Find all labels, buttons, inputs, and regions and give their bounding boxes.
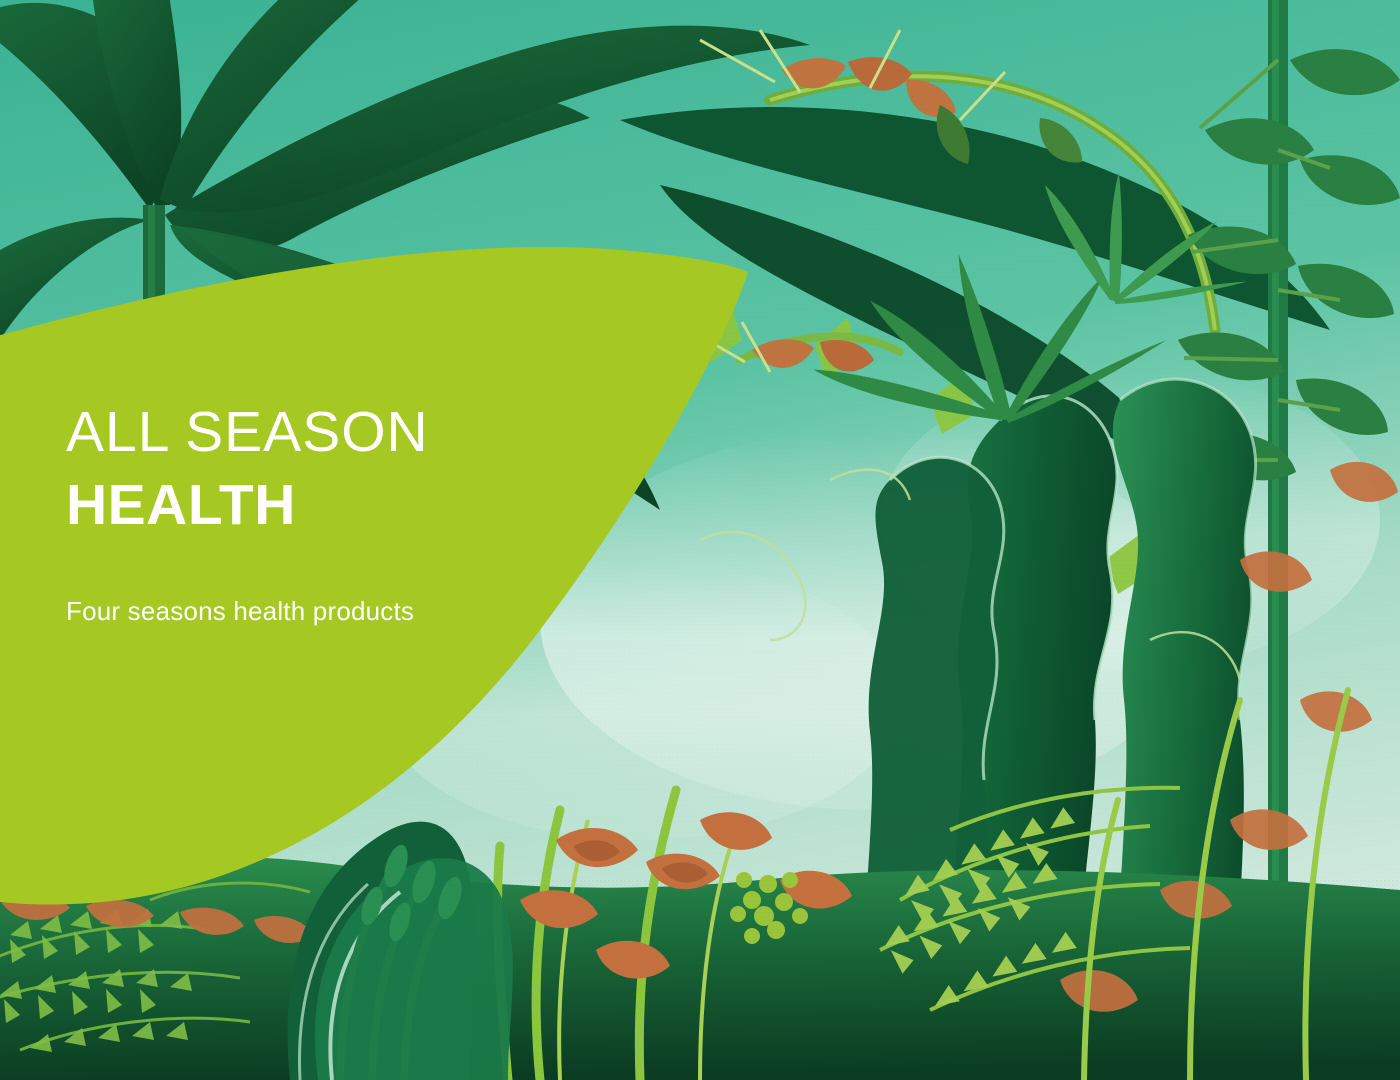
headline-line-2: HEALTH bbox=[66, 477, 686, 534]
poster-subtitle: Four seasons health products bbox=[66, 596, 686, 627]
headline-text-block: ALL SEASON HEALTH Four seasons health pr… bbox=[66, 404, 686, 627]
headline-line-1: ALL SEASON bbox=[66, 404, 686, 461]
poster-canvas: ALL SEASON HEALTH Four seasons health pr… bbox=[0, 0, 1400, 1080]
